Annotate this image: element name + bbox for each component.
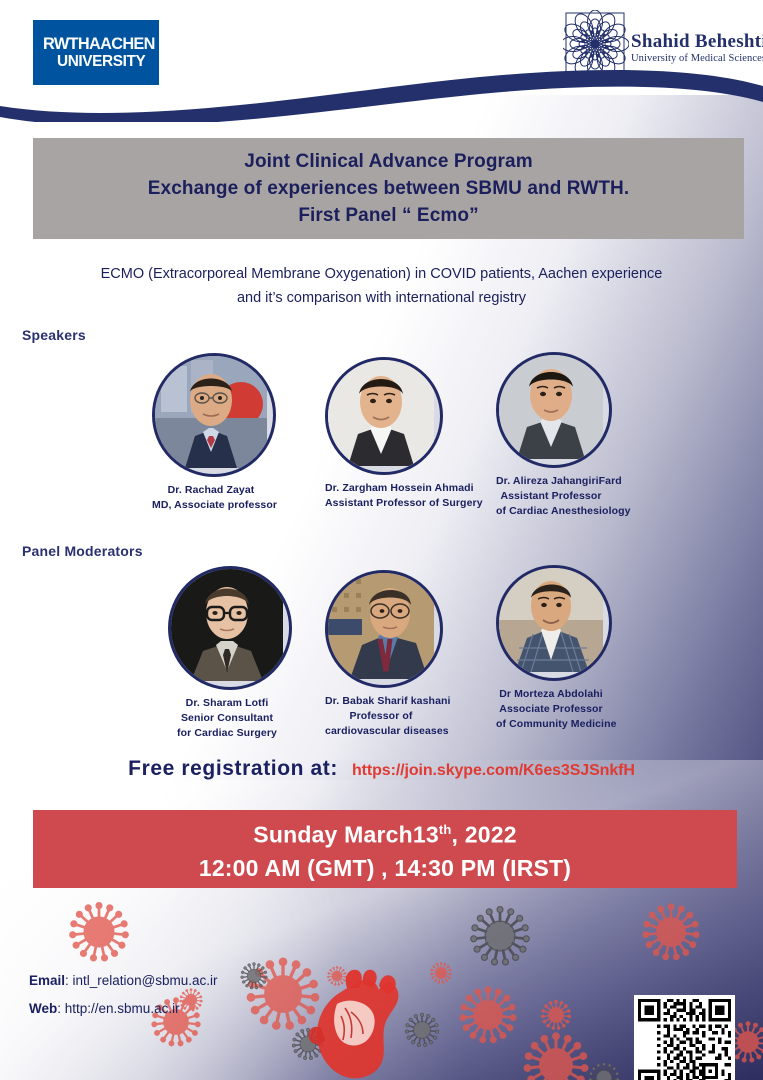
speaker-3-name: Dr. Alireza JahangiriFard: [496, 474, 606, 489]
moderator-1-caption: Dr. Sharam Lotfi Senior Consultant for C…: [168, 696, 286, 741]
contact-email-row: Email: intl_relation@sbmu.ac.ir: [29, 967, 218, 995]
date-prefix: Sunday March13: [253, 822, 439, 848]
time-line: 12:00 AM (GMT) , 14:30 PM (IRST): [199, 853, 571, 884]
subtitle-line-2: and it’s comparison with international r…: [60, 286, 703, 310]
moderator-2-title-1: Professor of: [325, 709, 437, 724]
rwth-logo-bold-text: RWTH: [43, 34, 89, 53]
contact-block: Email: intl_relation@sbmu.ac.ir Web: htt…: [29, 967, 218, 1023]
subtitle-block: ECMO (Extracorporeal Membrane Oxygenatio…: [0, 262, 763, 310]
speaker-2-portrait: [325, 357, 443, 475]
moderator-2-caption: Dr. Babak Sharif kashani Professor of ca…: [325, 694, 437, 739]
moderator-1-title-1: Senior Consultant: [168, 711, 286, 726]
moderator-3-title-2: of Community Medicine: [496, 717, 606, 732]
speaker-card-2: Dr. Zargham Hossein Ahmadi Assistant Pro…: [325, 357, 437, 511]
moderator-3-portrait: [496, 565, 612, 681]
date-banner: Sunday March13th, 2022 12:00 AM (GMT) , …: [33, 810, 737, 888]
moderator-3-name: Dr Morteza Abdolahi: [496, 687, 606, 702]
registration-link[interactable]: https://join.skype.com/K6es3SJSnkfH: [352, 762, 635, 780]
speaker-1-portrait: [152, 353, 276, 477]
registration-row: Free registration at: https://join.skype…: [0, 757, 763, 781]
moderator-card-3: Dr Morteza Abdolahi Associate Professor …: [496, 565, 606, 732]
moderator-2-title-2: cardiovascular diseases: [325, 724, 437, 739]
contact-email-label: Email: [29, 973, 65, 988]
speaker-1-title-1: MD, Associate professor: [152, 498, 270, 513]
title-line-2: Exchange of experiences between SBMU and…: [148, 176, 629, 202]
portrait-photo-icon: [499, 355, 603, 459]
date-line: Sunday March13th, 2022: [253, 814, 516, 851]
contact-web-value: : http://en.sbmu.ac.ir: [57, 1001, 179, 1016]
portrait-photo-icon: [499, 568, 603, 672]
speaker-card-1: Dr. Rachad Zayat MD, Associate professor: [152, 353, 270, 513]
moderator-card-1: Dr. Sharam Lotfi Senior Consultant for C…: [168, 566, 286, 741]
moderator-card-2: Dr. Babak Sharif kashani Professor of ca…: [325, 570, 437, 739]
rwth-logo-thin-text: AACHEN: [89, 34, 155, 53]
subtitle-line-1: ECMO (Extracorporeal Membrane Oxygenatio…: [60, 262, 703, 286]
poster-root: RWTHAACHEN UNIVERSITY: [0, 0, 763, 1080]
speaker-2-name: Dr. Zargham Hossein Ahmadi: [325, 481, 437, 496]
moderator-1-name: Dr. Sharam Lotfi: [168, 696, 286, 711]
sbmu-logo-name: Shahid Beheshti: [631, 32, 763, 52]
date-ordinal-suffix: th: [439, 822, 452, 837]
registration-label: Free registration at:: [128, 757, 338, 781]
portrait-photo-icon: [155, 356, 267, 468]
speaker-3-portrait: [496, 352, 612, 468]
contact-email-value: : intl_relation@sbmu.ac.ir: [65, 973, 218, 988]
portrait-photo-icon: [328, 360, 434, 466]
speaker-1-name: Dr. Rachad Zayat: [152, 483, 270, 498]
speakers-section-label: Speakers: [22, 327, 86, 343]
moderator-1-portrait: [168, 566, 292, 690]
speaker-3-title-1: Assistant Professor: [496, 489, 606, 504]
qr-code-icon: [638, 999, 731, 1080]
moderators-section-label: Panel Moderators: [22, 543, 143, 559]
portrait-photo-icon: [328, 573, 434, 679]
title-line-1: Joint Clinical Advance Program: [244, 149, 532, 175]
speaker-2-title-1: Assistant Professor of Surgery: [325, 496, 437, 511]
moderator-3-title-1: Associate Professor: [496, 702, 606, 717]
speaker-1-caption: Dr. Rachad Zayat MD, Associate professor: [152, 483, 270, 513]
date-year: , 2022: [452, 822, 517, 848]
speaker-card-3: Dr. Alireza JahangiriFard Assistant Prof…: [496, 352, 606, 519]
qr-code[interactable]: [634, 995, 735, 1080]
moderator-1-title-2: for Cardiac Surgery: [168, 726, 286, 741]
title-banner: Joint Clinical Advance Program Exchange …: [33, 138, 744, 239]
moderator-3-caption: Dr Morteza Abdolahi Associate Professor …: [496, 687, 606, 732]
moderator-2-name: Dr. Babak Sharif kashani: [325, 694, 437, 709]
header-wave-divider: [0, 62, 763, 122]
moderator-2-portrait: [325, 570, 443, 688]
title-line-3: First Panel “ Ecmo”: [298, 203, 478, 229]
contact-web-row: Web: http://en.sbmu.ac.ir: [29, 995, 218, 1023]
speaker-2-caption: Dr. Zargham Hossein Ahmadi Assistant Pro…: [325, 481, 437, 511]
contact-web-label: Web: [29, 1001, 57, 1016]
portrait-photo-icon: [171, 569, 283, 681]
speaker-3-title-2: of Cardiac Anesthesiology: [496, 504, 606, 519]
speaker-3-caption: Dr. Alireza JahangiriFard Assistant Prof…: [496, 474, 606, 519]
